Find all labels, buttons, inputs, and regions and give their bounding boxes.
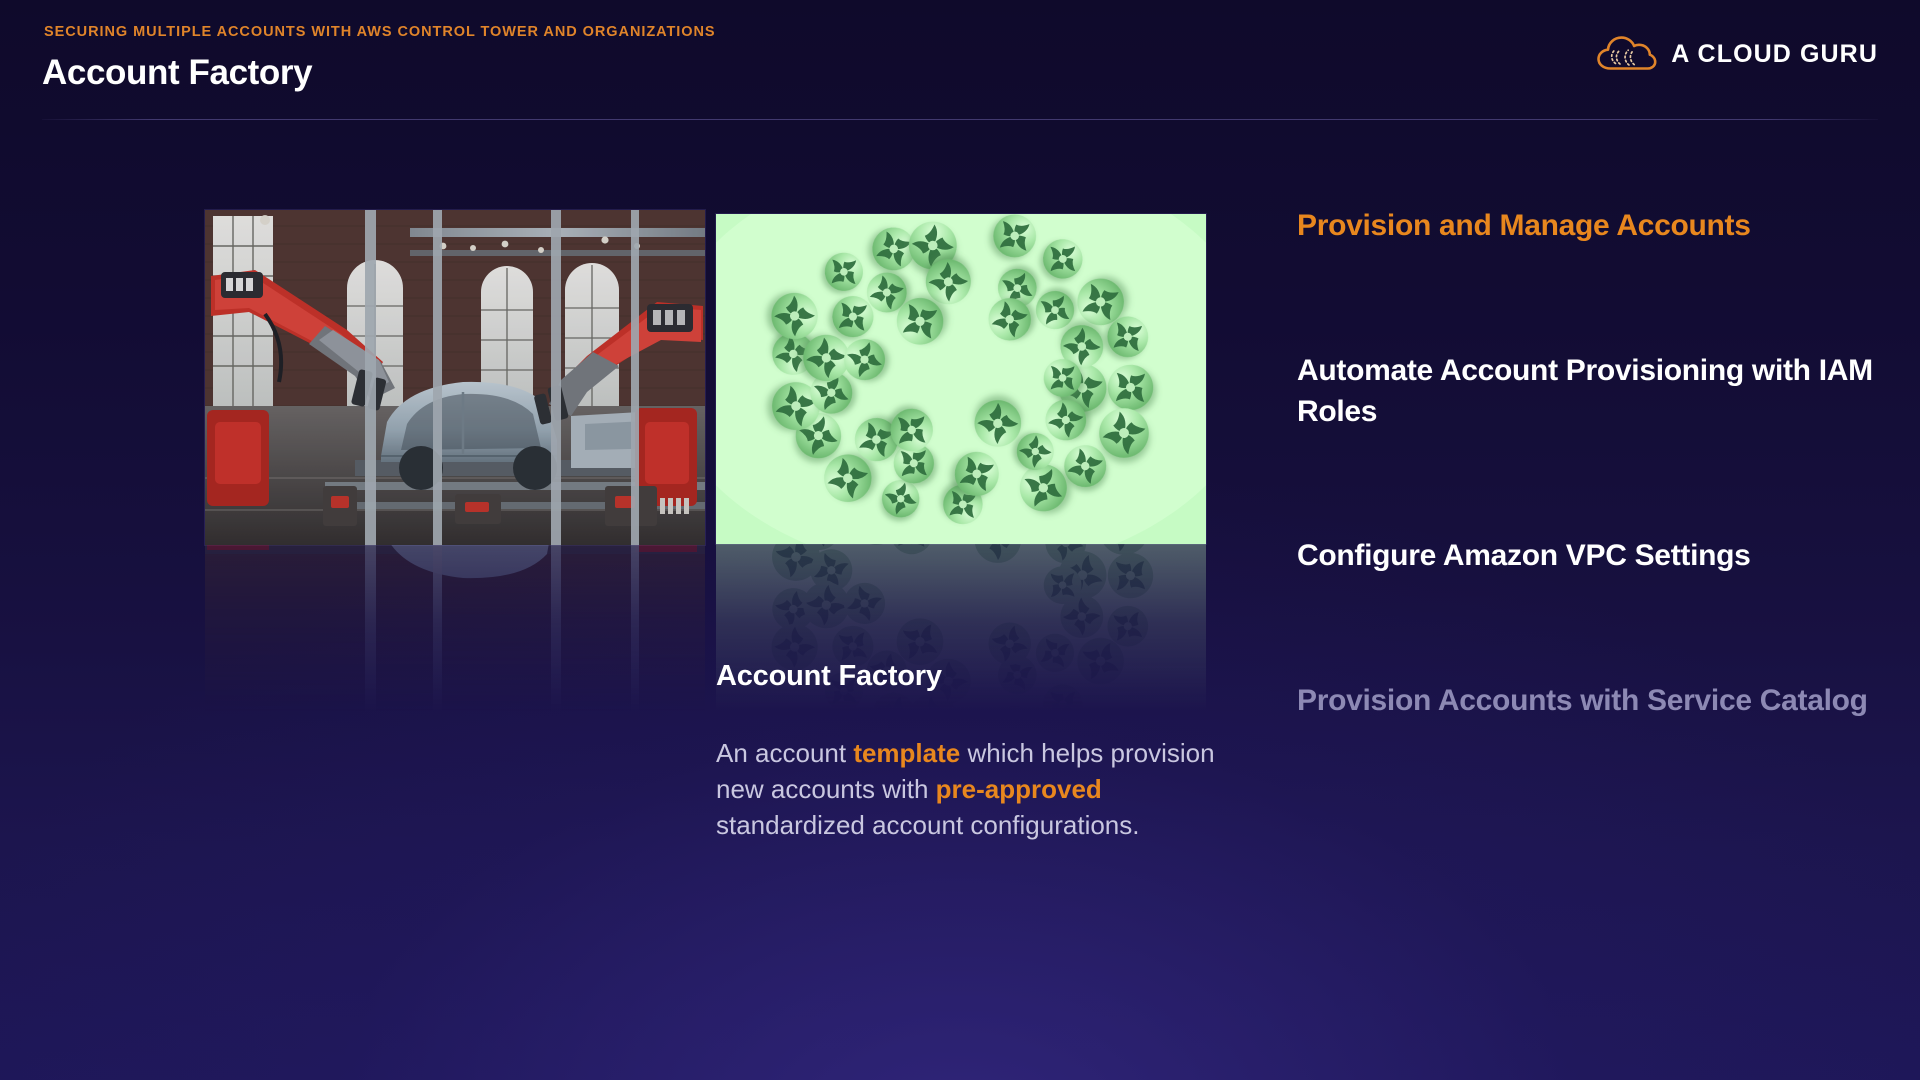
slide-header: SECURING MULTIPLE ACCOUNTS WITH AWS CONT… [0,0,1920,122]
brand-logo: A CLOUD GURU [1596,34,1878,74]
factory-image-reflection [205,545,705,750]
agenda-spacer-1 [1297,246,1877,350]
factory-robots-image [205,210,705,545]
green-spheres-image [716,214,1206,544]
caption-block: Account Factory An account template whic… [716,660,1216,843]
agenda-spacer-3 [1297,576,1877,680]
slide-root: SECURING MULTIPLE ACCOUNTS WITH AWS CONT… [0,0,1920,1080]
agenda-item-4[interactable]: Provision Accounts with Service Catalog [1297,680,1877,721]
caption-title: Account Factory [716,660,1216,693]
spheres-illustration [716,214,1206,544]
caption-body: An account template which helps provisio… [716,735,1216,843]
factory-image-frame [205,210,705,545]
agenda-item-1[interactable]: Provision and Manage Accounts [1297,205,1877,246]
header-divider [42,119,1878,120]
agenda-item-2[interactable]: Automate Account Provisioning with IAM R… [1297,350,1877,432]
page-title: Account Factory [42,53,312,93]
caption-emphasis: pre-approved [936,774,1102,804]
brand-wordmark: A CLOUD GURU [1671,40,1878,69]
cloud-icon [1596,34,1658,74]
course-kicker: SECURING MULTIPLE ACCOUNTS WITH AWS CONT… [44,24,716,40]
spheres-image-frame [716,214,1206,544]
caption-emphasis: template [853,738,960,768]
agenda-list: Provision and Manage Accounts Automate A… [1297,205,1877,721]
agenda-spacer-2 [1297,432,1877,535]
factory-illustration [205,210,705,545]
agenda-item-3[interactable]: Configure Amazon VPC Settings [1297,535,1877,576]
